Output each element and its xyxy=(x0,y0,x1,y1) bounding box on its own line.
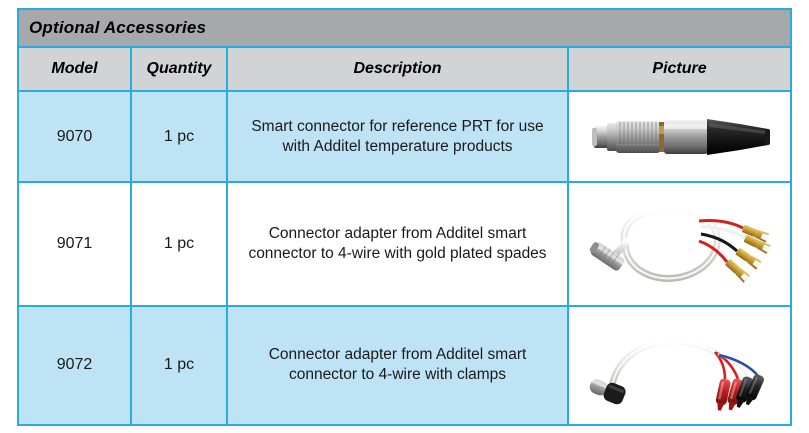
cell-description: Connector adapter from Additel smart con… xyxy=(227,306,568,425)
table-row: 9072 1 pc Connector adapter from Additel… xyxy=(18,306,791,425)
clamp-adapter-illustration xyxy=(577,319,782,411)
column-header-description-label: Description xyxy=(353,60,441,77)
table-title: Optional Accessories xyxy=(29,18,206,37)
spade-adapter-illustration xyxy=(577,197,782,292)
column-header-picture: Picture xyxy=(568,47,791,91)
optional-accessories-table: Optional Accessories Model Quantity Desc… xyxy=(17,8,792,426)
smart-connector-photo xyxy=(569,92,790,181)
column-header-quantity: Quantity xyxy=(131,47,227,91)
cell-description: Connector adapter from Additel smart con… xyxy=(227,182,568,305)
column-header-description: Description xyxy=(227,47,568,91)
smart-connector-illustration xyxy=(580,102,780,172)
cell-model: 9070 xyxy=(18,91,131,182)
optional-accessories-table-wrapper: Optional Accessories Model Quantity Desc… xyxy=(17,8,790,426)
connector-adapter-spades-photo xyxy=(569,183,790,304)
table-row: 9070 1 pc Smart connector for reference … xyxy=(18,91,791,182)
cell-description: Smart connector for reference PRT for us… xyxy=(227,91,568,182)
column-header-quantity-label: Quantity xyxy=(147,60,212,77)
column-header-picture-label: Picture xyxy=(652,60,706,77)
table-title-cell: Optional Accessories xyxy=(18,9,791,47)
cell-model: 9071 xyxy=(18,182,131,305)
cell-quantity: 1 pc xyxy=(131,182,227,305)
column-header-model-label: Model xyxy=(51,60,97,77)
cell-picture xyxy=(568,306,791,425)
table-title-row: Optional Accessories xyxy=(18,9,791,47)
column-header-model: Model xyxy=(18,47,131,91)
table-row: 9071 1 pc Connector adapter from Additel… xyxy=(18,182,791,305)
cell-picture xyxy=(568,182,791,305)
cell-picture xyxy=(568,91,791,182)
cell-quantity: 1 pc xyxy=(131,306,227,425)
connector-adapter-clamps-photo xyxy=(569,307,790,424)
cell-model: 9072 xyxy=(18,306,131,425)
cell-quantity: 1 pc xyxy=(131,91,227,182)
table-header-row: Model Quantity Description Picture xyxy=(18,47,791,91)
